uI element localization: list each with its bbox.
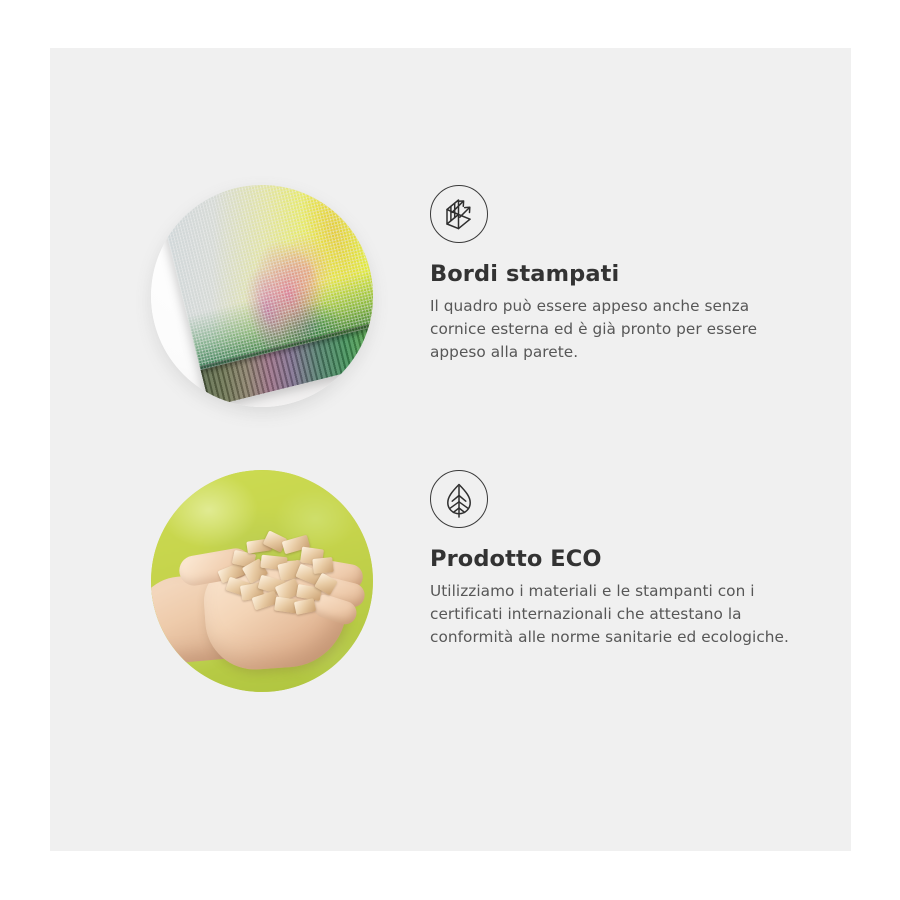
feature-block-eco-product: Prodotto ECO Utilizziamo i materiali e l… [50,470,851,750]
feature-block-printed-edges: Bordi stampati Il quadro può essere appe… [50,185,851,455]
photo-circle-mask [151,185,373,407]
leaf-icon [430,470,488,528]
feature-description: Utilizziamo i materiali e le stampanti c… [430,580,802,650]
content-panel: Bordi stampati Il quadro può essere appe… [50,48,851,851]
wood-chip-pile [213,532,343,618]
photo-circle-mask [151,470,373,692]
product-feature-infographic: Bordi stampati Il quadro può essere appe… [0,0,900,900]
printed-edges-icon [430,185,488,243]
wood-chips-in-hands-photo [151,470,373,692]
canvas-print-corner-photo [151,185,373,407]
feature-copy-eco-product: Prodotto ECO Utilizziamo i materiali e l… [430,470,802,650]
feature-title: Prodotto ECO [430,547,802,573]
feature-description: Il quadro può essere appeso anche senza … [430,295,802,365]
feature-copy-printed-edges: Bordi stampati Il quadro può essere appe… [430,185,802,365]
feature-title: Bordi stampati [430,262,802,288]
